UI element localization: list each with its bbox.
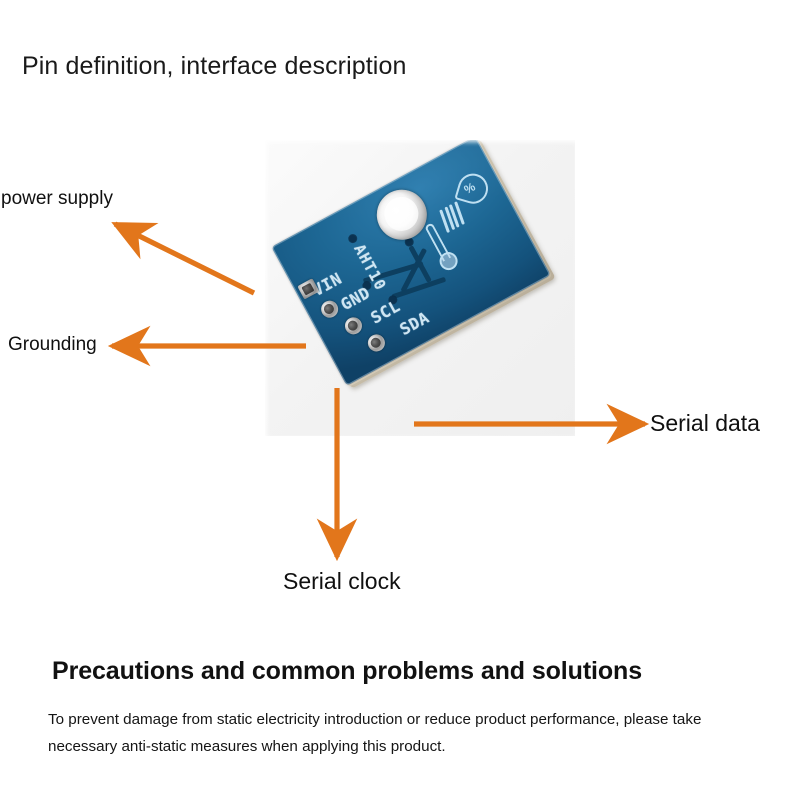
- solder-pad-sda: [365, 331, 388, 354]
- board-wrapper: % VIN GND SCL SDA AHT10: [289, 154, 551, 418]
- pcb-via: [348, 234, 357, 243]
- arrow-power-supply: [115, 224, 254, 293]
- callout-label-grounding: Grounding: [8, 334, 97, 356]
- section-title-precautions: Precautions and common problems and solu…: [52, 657, 642, 686]
- pcb-trace: [392, 277, 447, 300]
- callout-label-serial-clock: Serial clock: [283, 568, 401, 595]
- page-root: Pin definition, interface description: [0, 0, 800, 800]
- callout-label-power-supply: power supply: [1, 188, 113, 210]
- page-title: Pin definition, interface description: [22, 52, 406, 81]
- pcb-solder-mask: % VIN GND SCL SDA AHT10: [271, 140, 550, 386]
- pcb-board: % VIN GND SCL SDA AHT10: [271, 140, 550, 386]
- solder-pad-gnd: [318, 298, 341, 321]
- callout-label-serial-data: Serial data: [650, 410, 760, 437]
- silk-label-part: AHT10: [350, 241, 390, 294]
- precautions-paragraph: To prevent damage from static electricit…: [48, 706, 728, 760]
- solder-pad-scl: [342, 314, 365, 337]
- sensor-board-photo: % VIN GND SCL SDA AHT10: [265, 140, 575, 436]
